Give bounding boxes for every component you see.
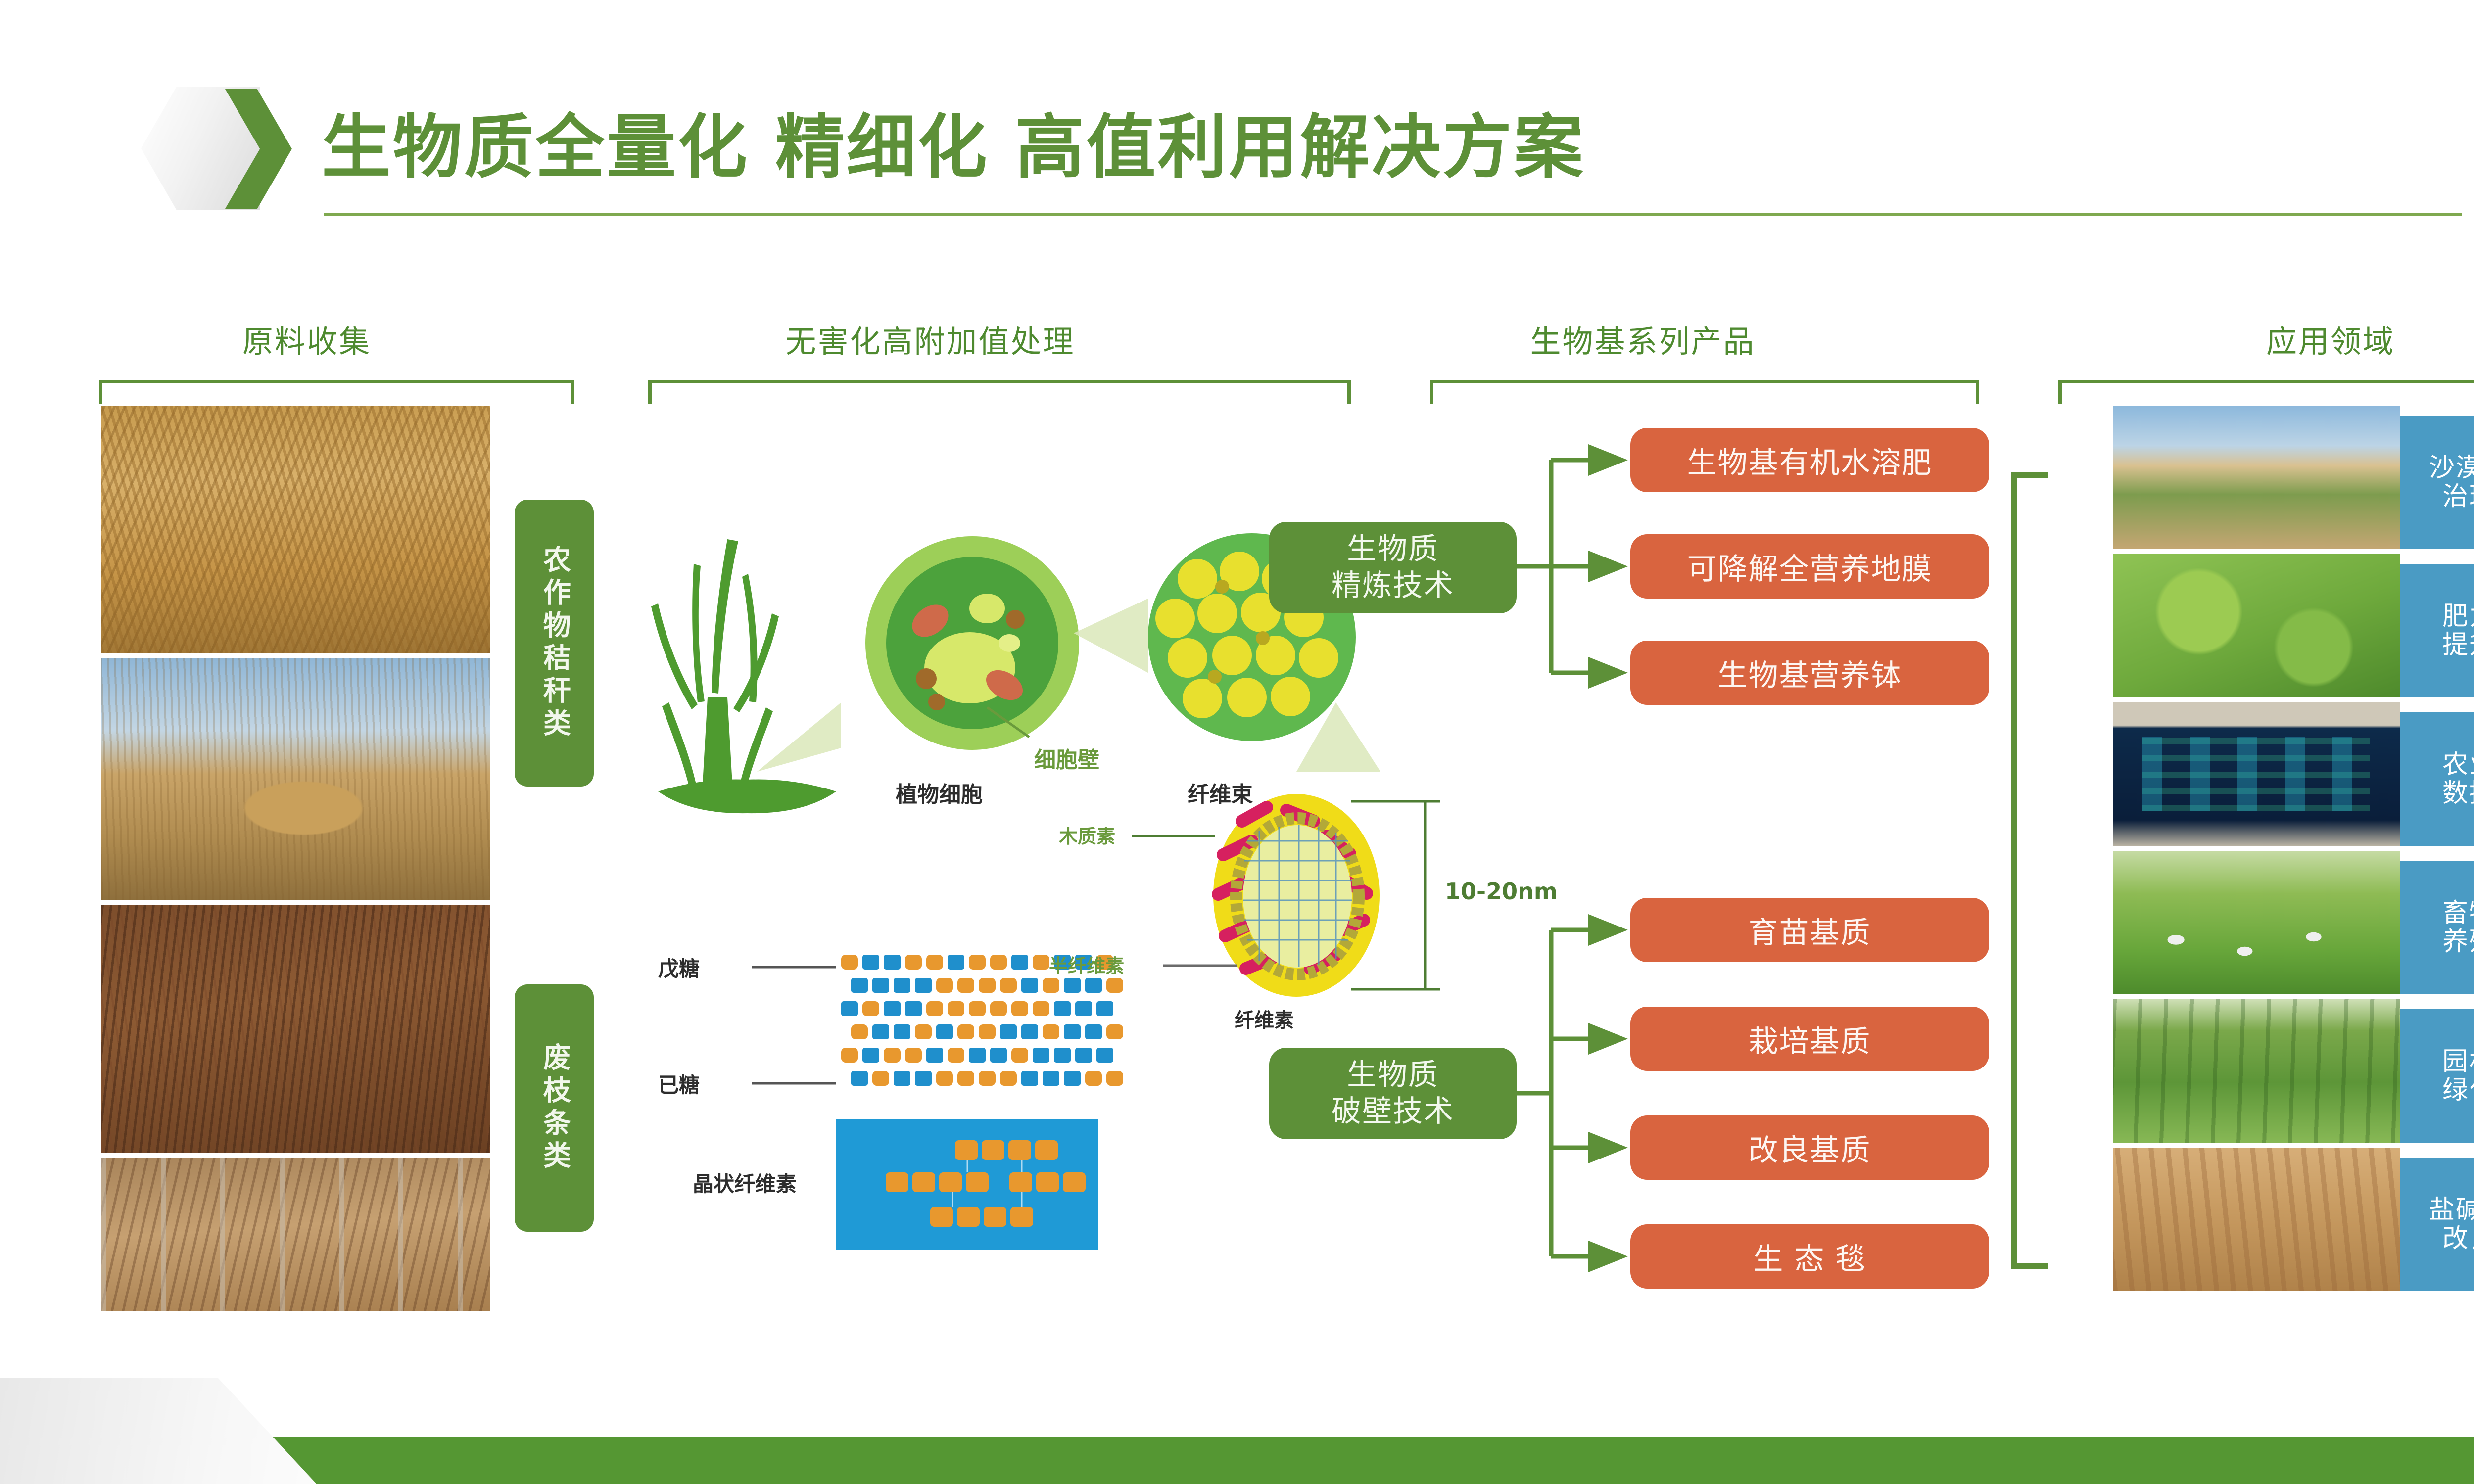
footer-bar	[0, 1437, 2474, 1484]
app-photo-park-lawn	[2113, 999, 2400, 1143]
label-hemicellulose: 半纤维素	[1049, 951, 1124, 978]
label-fiber-bundle: 纤维束	[1188, 777, 1253, 808]
app-landscape-line1: 园林	[2442, 1047, 2474, 1076]
product-pill-nutrition-pot[interactable]: 生物基营养钵	[1630, 641, 1989, 705]
app-data-line2: 数据	[2442, 779, 2474, 808]
section-title-applications: 应用领域	[2142, 317, 2474, 361]
label-cellulose: 纤维素	[1235, 1004, 1294, 1033]
section-title-products: 生物基系列产品	[1420, 317, 1865, 361]
raw-category-label-straw: 农作物秸秆类	[515, 500, 594, 787]
connector-refining	[1517, 460, 1588, 673]
label-dimension: 10-20nm	[1445, 878, 1558, 905]
rice-plant-icon	[651, 539, 836, 813]
magnify-cone-3	[1296, 702, 1380, 772]
plant-cell-circle	[876, 547, 1069, 740]
app-landscape-line2: 绿化	[2442, 1076, 2474, 1105]
label-cell-wall: 细胞壁	[1034, 742, 1099, 774]
product-pill-ecological-blanket[interactable]: 生 态 毯	[1630, 1224, 1989, 1289]
app-photo-desert-control	[2113, 406, 2400, 549]
raw-category-label-branches: 废枝条类	[515, 984, 594, 1232]
app-saline-line2: 改良	[2442, 1224, 2474, 1253]
app-label-saline-land-improvement[interactable]: 盐碱地 改良	[2400, 1158, 2474, 1291]
connector-wallbreaking	[1517, 930, 1588, 1256]
product-pill-seedling-substrate[interactable]: 育苗基质	[1630, 898, 1989, 962]
app-desert-line1: 沙漠化	[2429, 454, 2474, 482]
bracket-applications	[2058, 380, 2474, 404]
app-label-desertification-control[interactable]: 沙漠化 治理	[2400, 416, 2474, 549]
photo-vineyard-pruning	[101, 1158, 490, 1311]
app-data-line1: 农业	[2442, 750, 2474, 779]
dashboard-screen-graphic	[2142, 737, 2370, 811]
slide-root: 生物质全量化 精细化 高值利用解决方案 原料收集 无害化高附加值处理 生物基系列…	[0, 0, 2474, 1484]
cellulose-grid	[1243, 825, 1352, 967]
fibril-cross-section	[1213, 794, 1380, 997]
label-plant-cell: 植物细胞	[896, 777, 983, 808]
photo-corn-straw	[101, 406, 490, 653]
app-fertility-line2: 提升	[2442, 631, 2474, 659]
dimension-bracket	[1351, 801, 1440, 989]
app-livestock-line2: 养殖	[2442, 927, 2474, 956]
tech-wallbreaking-line1: 生物质	[1347, 1057, 1439, 1093]
photo-baled-straw	[101, 658, 490, 900]
app-desert-line2: 治理	[2442, 482, 2474, 511]
arrowheads-wallbreaking	[1588, 914, 1628, 1272]
product-pill-improvement-substrate[interactable]: 改良基质	[1630, 1115, 1989, 1180]
app-photo-data-room	[2113, 702, 2400, 846]
product-pill-water-soluble-fertilizer[interactable]: 生物基有机水溶肥	[1630, 428, 1989, 492]
lignin-stripes	[1218, 807, 1367, 969]
label-pentose: 戊糖	[658, 952, 700, 982]
arrowheads-refining	[1588, 444, 1628, 689]
bracket-products	[1430, 380, 1979, 404]
tech-refining-line1: 生物质	[1347, 531, 1439, 567]
app-photo-saline-soil	[2113, 1148, 2400, 1291]
label-hexose: 已糖	[658, 1068, 700, 1099]
label-lignin: 木质素	[1059, 821, 1115, 848]
app-photo-cabbage-field	[2113, 554, 2400, 697]
title-underline	[324, 213, 2462, 216]
crystalline-cellulose-panel	[836, 1119, 1098, 1250]
app-label-fertility-improvement[interactable]: 肥力 提升	[2400, 564, 2474, 697]
product-pill-cultivation-substrate[interactable]: 栽培基质	[1630, 1007, 1989, 1071]
bracket-raw-collection	[99, 380, 574, 404]
magnify-cone-2	[1074, 599, 1148, 673]
app-livestock-line1: 畜牧	[2442, 899, 2474, 927]
page-title: 生物质全量化 精细化 高值利用解决方案	[322, 92, 1585, 191]
tech-pill-wallbreaking[interactable]: 生物质 破壁技术	[1269, 1048, 1517, 1139]
product-pill-biodegradable-mulch-film[interactable]: 可降解全营养地膜	[1630, 534, 1989, 599]
label-crystalline-cellulose: 晶状纤维素	[693, 1167, 797, 1198]
app-label-agriculture-data[interactable]: 农业 数据	[2400, 712, 2474, 846]
bracket-processing	[648, 380, 1351, 404]
crystalline-hexes	[886, 1140, 1086, 1227]
tech-refining-line2: 精炼技术	[1332, 568, 1454, 604]
tech-wallbreaking-line2: 破壁技术	[1332, 1094, 1454, 1130]
applications-bracket	[2014, 475, 2048, 1266]
cellulose-core	[1243, 825, 1352, 968]
hemicellulose-ring	[1236, 818, 1359, 974]
tech-pill-refining[interactable]: 生物质 精炼技术	[1269, 522, 1517, 613]
magnify-cone-1	[757, 702, 841, 772]
app-saline-line1: 盐碱地	[2429, 1196, 2474, 1224]
app-label-landscape-greening[interactable]: 园林 绿化	[2400, 1009, 2474, 1143]
section-title-raw-collection: 原料收集	[178, 317, 435, 361]
photo-dry-branches	[101, 905, 490, 1153]
app-fertility-line1: 肥力	[2442, 602, 2474, 631]
section-title-processing: 无害化高附加值处理	[584, 317, 1277, 361]
cell-wall-leader-line	[987, 707, 1029, 737]
app-label-livestock-breeding[interactable]: 畜牧 养殖	[2400, 861, 2474, 994]
app-photo-sheep-grassland	[2113, 851, 2400, 994]
